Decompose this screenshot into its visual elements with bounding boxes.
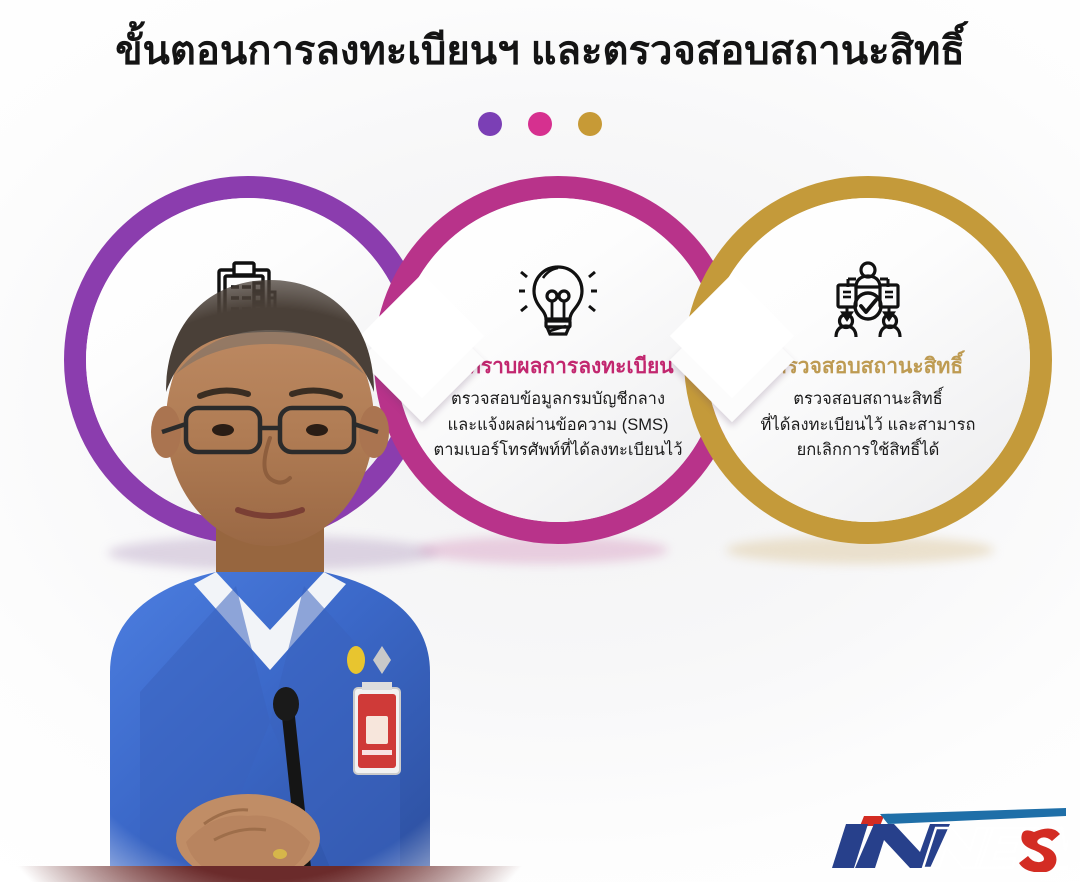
infographic-canvas: ขั้นตอนการลงทะเบียนฯ และตรวจสอบสถานะสิทธ… xyxy=(0,0,1080,882)
in-news-logo xyxy=(828,800,1068,872)
logo-top-bar xyxy=(880,808,1066,824)
title-block: ขั้นตอนการลงทะเบียนฯ และตรวจสอบสถานะสิทธ… xyxy=(0,28,1080,75)
step-3-body: ตรวจสอบสถานะสิทธิ์ ที่ได้ลงทะเบียนไว้ แล… xyxy=(761,387,976,464)
dot-gold xyxy=(578,112,602,136)
spokesperson-photo xyxy=(0,242,550,882)
step-3-title: ตรวจสอบสถานะสิทธิ์ xyxy=(773,354,963,379)
dot-purple xyxy=(478,112,502,136)
people-approval-icon xyxy=(820,252,916,348)
page-title: ขั้นตอนการลงทะเบียนฯ และตรวจสอบสถานะสิทธ… xyxy=(0,28,1080,75)
dot-separator xyxy=(0,112,1080,136)
dot-magenta xyxy=(528,112,552,136)
